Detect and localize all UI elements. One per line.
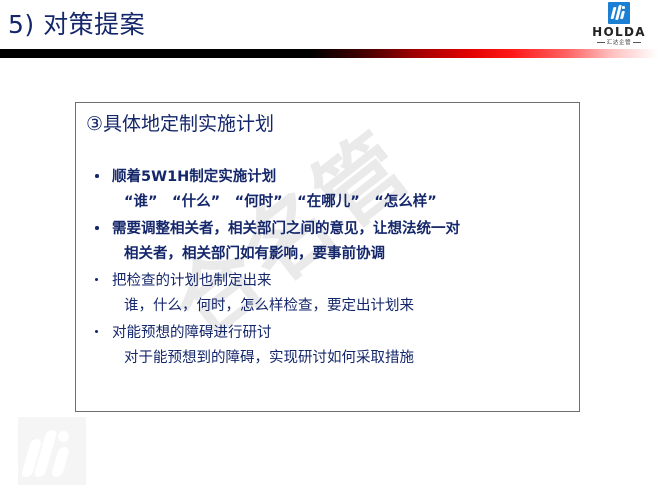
logo-dash-left — [597, 42, 605, 43]
watermark-bar-3 — [51, 447, 71, 477]
list-item: 把检查的计划也制定出来 谁，什么，何时，怎么样检查，要定出计划来 — [86, 269, 573, 319]
logo-dash-right — [633, 42, 641, 43]
hi-logo-mark-icon — [608, 2, 630, 24]
content-panel: ③具体地定制实施计划 顺着5W1H制定实施计划 “谁” “什么” “何时” “在… — [75, 102, 580, 412]
bullet-dot-icon — [95, 278, 98, 281]
bullet-sub-text: 对于能预想到的障碍，实现研讨如何采取措施 — [112, 346, 573, 371]
logo-wordmark: HOLDA — [588, 26, 650, 39]
bullet-sub-text: 谁，什么，何时，怎么样检查，要定出计划来 — [112, 294, 573, 319]
bullet-main-text: 对能预想的障碍进行研讨 — [112, 321, 573, 346]
bullet-dot-icon — [95, 330, 98, 333]
list-item: 顺着5W1H制定实施计划 “谁” “什么” “何时” “在哪儿” “怎么样” — [86, 165, 573, 215]
watermark-dot — [58, 431, 69, 442]
slide-header: 5) 对策提案 HOLDA 汇达企管 — [0, 0, 658, 52]
hi-watermark-logo — [18, 417, 86, 485]
logo-bar-3 — [620, 11, 625, 19]
bullet-dot-icon — [95, 174, 99, 178]
bullet-main-text: 顺着5W1H制定实施计划 — [112, 165, 573, 190]
bullet-main-text: 需要调整相关者，相关部门之间的意见，让想法统一对 — [112, 217, 573, 242]
holda-logo: HOLDA 汇达企管 — [588, 2, 650, 48]
list-item: 对能预想的障碍进行研讨 对于能预想到的障碍，实现研讨如何采取措施 — [86, 321, 573, 371]
panel-heading: ③具体地定制实施计划 — [86, 111, 274, 137]
header-gradient-divider — [0, 49, 658, 58]
logo-subtext-row: 汇达企管 — [588, 39, 650, 47]
list-item: 需要调整相关者，相关部门之间的意见，让想法统一对 相关者，相关部门如有影响，要事… — [86, 217, 573, 267]
bullet-sub-text: “谁” “什么” “何时” “在哪儿” “怎么样” — [112, 190, 573, 215]
slide-canvas: 合名管 5) 对策提案 HOLDA 汇达企管 ③具体地定制实施计划 顺着5W1H — [0, 0, 658, 493]
bullet-dot-icon — [95, 226, 99, 230]
logo-dot — [622, 6, 625, 9]
bullet-sub-text: 相关者，相关部门如有影响，要事前协调 — [112, 242, 573, 267]
bullet-main-text: 把检查的计划也制定出来 — [112, 269, 573, 294]
logo-subtext: 汇达企管 — [607, 40, 631, 46]
bullet-list: 顺着5W1H制定实施计划 “谁” “什么” “何时” “在哪儿” “怎么样” 需… — [86, 165, 573, 373]
page-title: 5) 对策提案 — [8, 8, 145, 42]
